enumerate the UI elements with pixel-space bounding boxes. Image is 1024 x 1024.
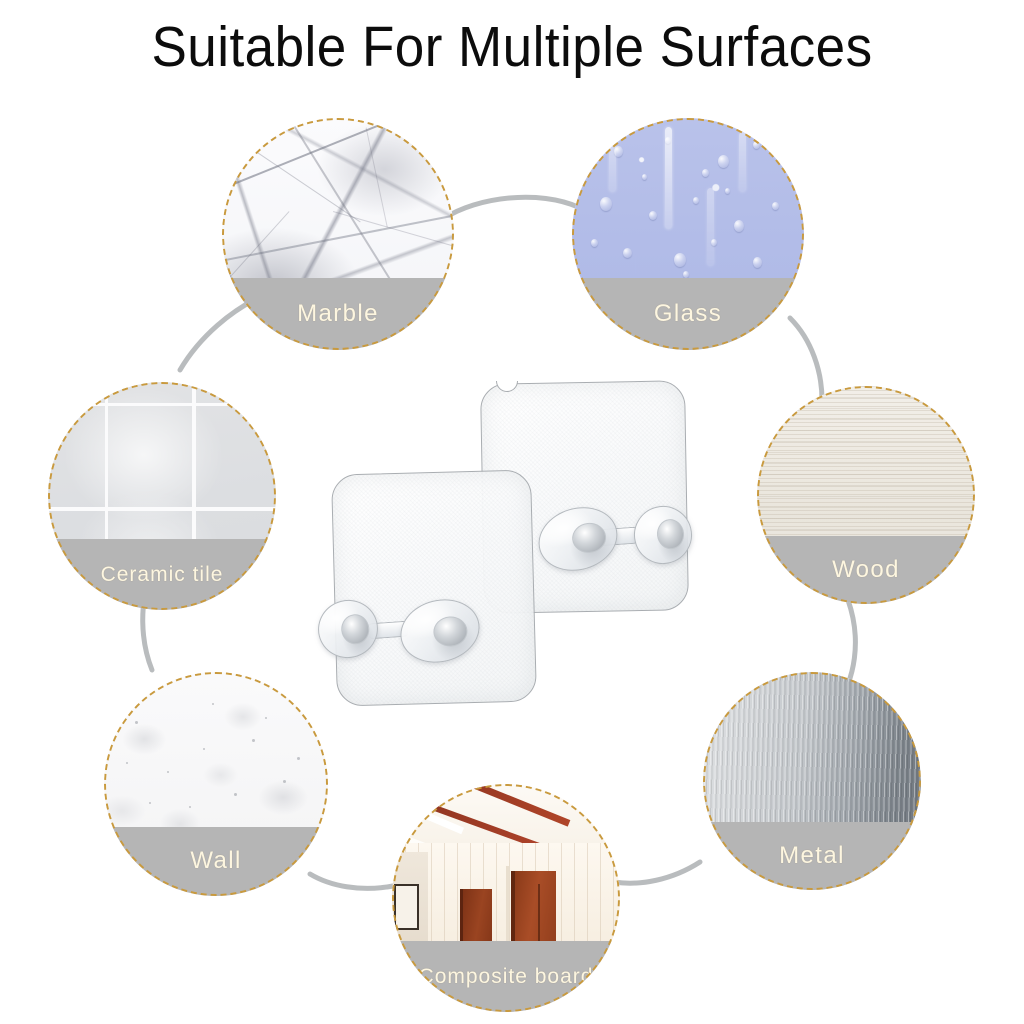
surface-circle-ceramic-tile[interactable]: Ceramic tile <box>48 382 276 610</box>
water-streak <box>707 188 714 267</box>
surface-circle-composite-board[interactable]: Composite board <box>392 784 620 1012</box>
hook-peg-hole <box>340 613 371 646</box>
hook-peg-hole <box>656 518 686 551</box>
hook-peg-hole <box>571 521 608 554</box>
surface-label-metal: Metal <box>779 842 845 870</box>
surface-circle-metal[interactable]: Metal <box>703 672 921 890</box>
hook-peg-hole <box>432 615 468 647</box>
surface-label-band-wall: Wall <box>104 827 328 896</box>
surface-label-marble: Marble <box>297 300 379 328</box>
surface-circle-glass[interactable]: Glass <box>572 118 804 350</box>
product-image-adhesive-hooks <box>300 360 700 720</box>
surface-label-composite-board: Composite board <box>419 965 594 989</box>
surface-circle-wall[interactable]: Wall <box>104 672 328 896</box>
water-streak <box>609 123 616 193</box>
surface-label-wall: Wall <box>190 847 241 875</box>
surface-label-glass: Glass <box>654 300 722 328</box>
surface-label-ceramic-tile: Ceramic tile <box>101 563 224 587</box>
surface-label-band-wood: Wood <box>757 536 975 604</box>
surface-label-band-ceramic-tile: Ceramic tile <box>48 539 276 610</box>
surface-label-band-glass: Glass <box>572 278 804 350</box>
surface-circle-marble[interactable]: Marble <box>222 118 454 350</box>
surface-label-band-metal: Metal <box>703 822 921 890</box>
far-window-frame <box>394 884 419 930</box>
water-streak <box>739 132 746 192</box>
surface-label-wood: Wood <box>832 556 900 584</box>
surface-label-band-composite-board: Composite board <box>392 941 620 1012</box>
hook-plate-front <box>331 469 537 706</box>
water-streak <box>665 127 672 229</box>
surface-circle-wood[interactable]: Wood <box>757 386 975 604</box>
infographic-canvas: Suitable For Multiple Surfaces <box>0 0 1024 1024</box>
surface-label-band-marble: Marble <box>222 278 454 350</box>
